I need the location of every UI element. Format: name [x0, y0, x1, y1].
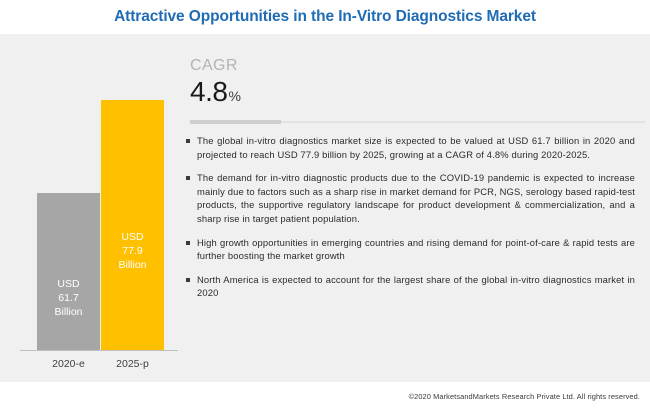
section-divider	[190, 120, 645, 124]
bar-chart: USD 61.7 Billion USD 77.9 Billion 2020-e…	[0, 34, 180, 382]
bar-value-label-2025p: USD 77.9 Billion	[118, 230, 146, 272]
page-title: Attractive Opportunities in the In-Vitro…	[114, 8, 536, 26]
x-axis-tick-label-2025p: 2025-p	[101, 358, 164, 370]
bar-2025p[interactable]: USD 77.9 Billion	[101, 100, 164, 350]
bullet-list: The global in-vitro diagnostics market s…	[186, 134, 646, 310]
bullet-text: North America is expected to account for…	[197, 273, 635, 300]
bar-value-label-2020e: USD 61.7 Billion	[54, 277, 82, 319]
footer-bar: ©2020 MarketsandMarkets Research Private…	[0, 382, 650, 415]
content-panel: USD 61.7 Billion USD 77.9 Billion 2020-e…	[0, 34, 650, 382]
cagr-value-row: 4.8 %	[190, 77, 490, 107]
square-bullet-icon	[186, 176, 190, 180]
cagr-percent-symbol: %	[228, 88, 240, 104]
bar-column-2020e: USD 61.7 Billion	[37, 193, 100, 350]
cagr-value: 4.8	[190, 77, 227, 107]
list-item: The global in-vitro diagnostics market s…	[186, 134, 646, 161]
list-item: The demand for in-vitro diagnostic produ…	[186, 171, 646, 225]
bar-2020e[interactable]: USD 61.7 Billion	[37, 193, 100, 350]
square-bullet-icon	[186, 241, 190, 245]
cagr-block: CAGR 4.8 %	[190, 56, 490, 107]
bullet-text: The global in-vitro diagnostics market s…	[197, 134, 635, 161]
square-bullet-icon	[186, 139, 190, 143]
list-item: High growth opportunities in emerging co…	[186, 236, 646, 263]
bullet-text: The demand for in-vitro diagnostic produ…	[197, 171, 635, 225]
copyright-notice: ©2020 MarketsandMarkets Research Private…	[409, 392, 640, 401]
infographic-root: Attractive Opportunities in the In-Vitro…	[0, 0, 650, 415]
divider-accent	[190, 120, 281, 124]
list-item: North America is expected to account for…	[186, 273, 646, 300]
bullet-text: High growth opportunities in emerging co…	[197, 236, 635, 263]
insights-region: CAGR 4.8 % The global in-vitro diagnosti…	[186, 34, 650, 382]
bar-column-2025p: USD 77.9 Billion	[101, 100, 164, 350]
square-bullet-icon	[186, 278, 190, 282]
title-bar: Attractive Opportunities in the In-Vitro…	[0, 0, 650, 34]
x-axis-tick-label-2020e: 2020-e	[37, 358, 100, 370]
x-axis-line	[20, 350, 178, 351]
chart-plot-area: USD 61.7 Billion USD 77.9 Billion	[20, 44, 178, 350]
cagr-label: CAGR	[190, 56, 490, 75]
